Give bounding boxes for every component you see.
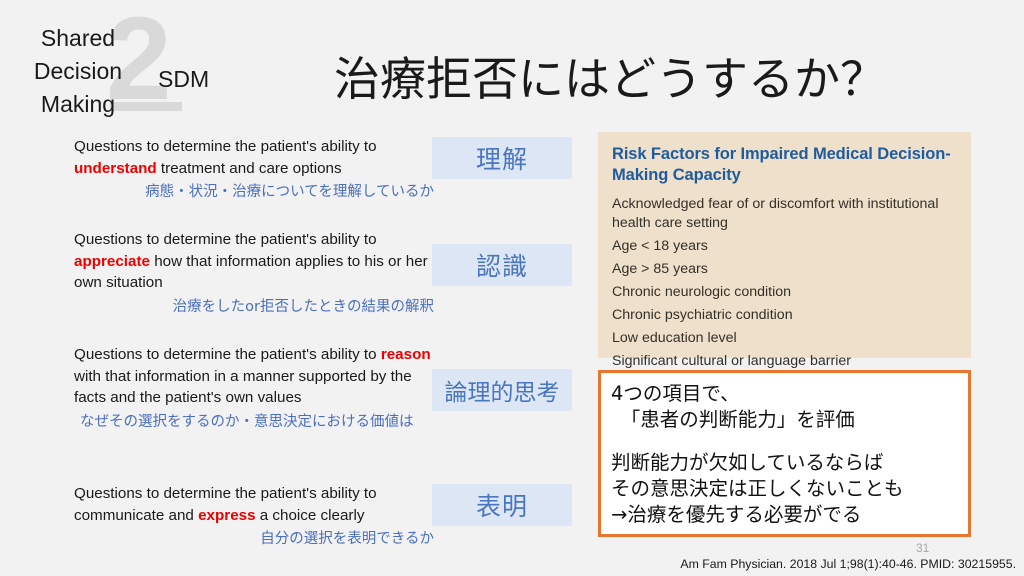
criteria-japanese-note: 病態・状況・治療についてを理解しているか	[74, 182, 434, 202]
summary-line-1: 4つの項目で、	[611, 381, 958, 407]
criteria-item-reason: Questions to determine the patient's abi…	[74, 344, 434, 432]
logo-line-3: Making	[18, 88, 138, 121]
criteria-japanese-note: なぜその選択をするのか・意思決定における価値は	[74, 412, 434, 432]
criteria-english-text: Questions to determine the patient's abi…	[74, 229, 434, 294]
criteria-item-express: Questions to determine the patient's abi…	[74, 483, 434, 549]
criteria-japanese-note: 自分の選択を表明できるか	[74, 529, 434, 549]
criteria-english-text: Questions to determine the patient's abi…	[74, 483, 434, 526]
source-citation: Am Fam Physician. 2018 Jul 1;98(1):40-46…	[0, 557, 1016, 571]
risk-factor-item: Acknowledged fear of or discomfort with …	[612, 195, 957, 232]
criteria-keyword: reason	[381, 346, 431, 363]
criteria-text-pre: Questions to determine the patient's abi…	[74, 231, 377, 248]
risk-factors-list: Acknowledged fear of or discomfort with …	[612, 195, 957, 370]
risk-factor-item: Chronic neurologic condition	[612, 283, 957, 302]
risk-factors-title: Risk Factors for Impaired Medical Decisi…	[612, 144, 957, 186]
criteria-keyword: understand	[74, 160, 157, 177]
logo-line-2: Decision	[18, 55, 138, 88]
summary-callout-box: 4つの項目で、 「患者の判断能力」を評価 判断能力が欠如しているならば その意思…	[598, 370, 971, 537]
criteria-keyword: appreciate	[74, 253, 150, 270]
risk-factor-item: Significant cultural or language barrier	[612, 352, 957, 371]
logo-line-1: Shared	[18, 22, 138, 55]
summary-spacer	[611, 433, 958, 450]
criteria-text-post: treatment and care options	[157, 160, 342, 177]
logo-abbrev: SDM	[158, 66, 209, 93]
risk-factors-panel: Risk Factors for Impaired Medical Decisi…	[598, 132, 971, 358]
risk-factor-item: Age < 18 years	[612, 237, 957, 256]
summary-line-3: 判断能力が欠如しているならば	[611, 450, 958, 476]
criteria-english-text: Questions to determine the patient's abi…	[74, 344, 434, 409]
logo-wordmark: Shared Decision Making	[18, 22, 138, 121]
criteria-item-understand: Questions to determine the patient's abi…	[74, 136, 434, 202]
criteria-text-post: a choice clearly	[256, 507, 365, 524]
criteria-text-post: with that information in a manner suppor…	[74, 368, 412, 407]
label-box-reasoning: 論理的思考	[432, 369, 572, 411]
criteria-text-pre: Questions to determine the patient's abi…	[74, 138, 377, 155]
summary-line-5: →治療を優先する必要がでる	[611, 502, 958, 528]
label-box-understanding: 理解	[432, 137, 572, 179]
slide-canvas: 2 Shared Decision Making SDM 治療拒否にはどうするか…	[0, 0, 1024, 576]
criteria-item-appreciate: Questions to determine the patient's abi…	[74, 229, 434, 317]
page-number: 31	[916, 541, 929, 555]
summary-line-2: 「患者の判断能力」を評価	[611, 407, 958, 433]
risk-factor-item: Age > 85 years	[612, 260, 957, 279]
criteria-text-pre: Questions to determine the patient's abi…	[74, 346, 381, 363]
criteria-japanese-note: 治療をしたor拒否したときの結果の解釈	[74, 297, 434, 317]
criteria-english-text: Questions to determine the patient's abi…	[74, 136, 434, 179]
label-box-appreciation: 認識	[432, 244, 572, 286]
label-box-expression: 表明	[432, 484, 572, 526]
risk-factor-item: Low education level	[612, 329, 957, 348]
summary-line-4: その意思決定は正しくないことも	[611, 476, 958, 502]
risk-factor-item: Chronic psychiatric condition	[612, 306, 957, 325]
criteria-keyword: express	[198, 507, 255, 524]
